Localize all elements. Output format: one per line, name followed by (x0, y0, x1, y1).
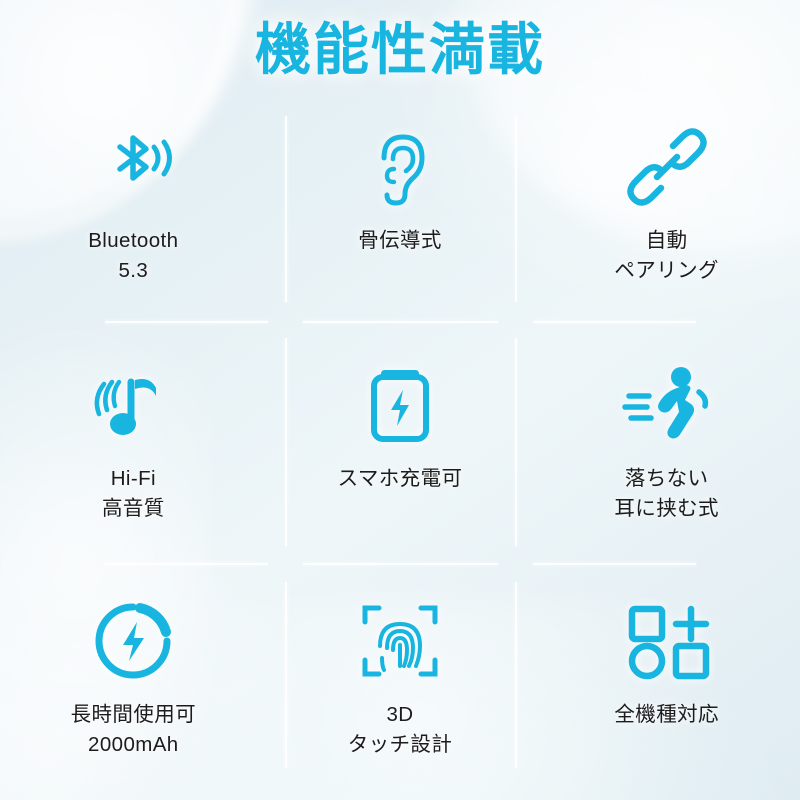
ear-icon (360, 108, 440, 226)
label-line: スマホ充電可 (338, 464, 463, 494)
feature-cell-universal-compat: 全機種対応 (533, 568, 800, 800)
charge-circle-icon (90, 582, 176, 700)
feature-cell-auto-pairing: 自動 ペアリング (533, 104, 800, 336)
feature-cell-hifi: Hi-Fi 高音質 (0, 336, 267, 568)
feature-label: Hi-Fi 高音質 (102, 464, 165, 524)
label-line: 耳に挟む式 (614, 494, 719, 524)
feature-label: 落ちない 耳に挟む式 (614, 464, 719, 524)
label-line: 3D (348, 700, 453, 730)
label-line: 落ちない (614, 464, 719, 494)
feature-cell-battery-life: 長時間使用可 2000mAh (0, 568, 267, 800)
feature-cell-secure-fit: 落ちない 耳に挟む式 (533, 336, 800, 568)
label-line: ペアリング (614, 256, 719, 286)
feature-grid: Bluetooth 5.3 骨伝導式 (0, 104, 800, 800)
feature-cell-bluetooth: Bluetooth 5.3 (0, 104, 267, 336)
feature-label: 自動 ペアリング (614, 226, 719, 286)
feature-cell-bone-conduction: 骨伝導式 (267, 104, 534, 336)
device-shapes-icon (624, 582, 710, 700)
label-line: 高音質 (102, 494, 165, 524)
feature-label: スマホ充電可 (338, 464, 463, 494)
feature-label: Bluetooth 5.3 (88, 226, 178, 286)
link-chain-icon (624, 108, 710, 226)
label-line: 全機種対応 (614, 700, 719, 730)
running-person-icon (621, 346, 713, 464)
fingerprint-scan-icon (357, 582, 443, 700)
label-line: 自動 (614, 226, 719, 256)
label-line: 長時間使用可 (71, 700, 196, 730)
feature-poster: 機能性満載 Bluetooth 5.3 (0, 0, 800, 800)
page-title: 機能性満載 (0, 14, 800, 86)
feature-label: 骨伝導式 (358, 226, 442, 256)
feature-cell-touch-control: 3D タッチ設計 (267, 568, 534, 800)
label-line: 2000mAh (71, 730, 196, 760)
feature-cell-phone-charging: スマホ充電可 (267, 336, 534, 568)
feature-label: 3D タッチ設計 (348, 700, 453, 760)
label-line: Hi-Fi (102, 464, 165, 494)
label-line: 骨伝導式 (358, 226, 442, 256)
label-line: Bluetooth (88, 226, 178, 256)
music-note-icon (90, 346, 176, 464)
feature-label: 長時間使用可 2000mAh (71, 700, 196, 760)
label-line: タッチ設計 (348, 730, 453, 760)
label-line: 5.3 (88, 256, 178, 286)
feature-label: 全機種対応 (614, 700, 719, 730)
bluetooth-icon (90, 108, 176, 226)
battery-charging-icon (364, 346, 436, 464)
